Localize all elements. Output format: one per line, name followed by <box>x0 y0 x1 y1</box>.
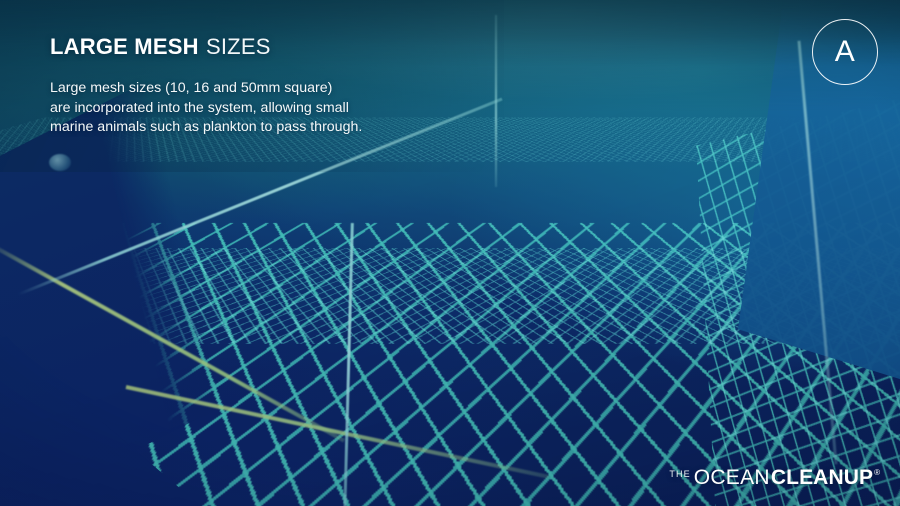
headline-strong: LARGE MESH <box>50 34 199 59</box>
the-ocean-cleanup-logo: THE OCEAN CLEANUP ® <box>669 466 880 490</box>
headline: LARGE MESH SIZES <box>50 36 271 58</box>
logo-word-ocean: OCEAN <box>694 466 770 490</box>
registered-trademark-icon: ® <box>874 468 880 477</box>
logo-word-the: THE <box>669 469 690 479</box>
body-copy: Large mesh sizes (10, 16 and 50mm square… <box>50 79 362 138</box>
body-copy-line-2: are incorporated into the system, allowi… <box>50 99 362 119</box>
body-copy-line-3: marine animals such as plankton to pass … <box>50 118 362 138</box>
slide-label-badge: A <box>812 19 878 85</box>
slide-label-letter: A <box>835 37 856 67</box>
slide-canvas: LARGE MESH SIZES Large mesh sizes (10, 1… <box>0 0 900 506</box>
headline-light: SIZES <box>206 34 271 59</box>
logo-word-cleanup: CLEANUP <box>771 466 873 490</box>
body-copy-line-1: Large mesh sizes (10, 16 and 50mm square… <box>50 79 362 99</box>
slide-content: LARGE MESH SIZES Large mesh sizes (10, 1… <box>0 0 900 506</box>
